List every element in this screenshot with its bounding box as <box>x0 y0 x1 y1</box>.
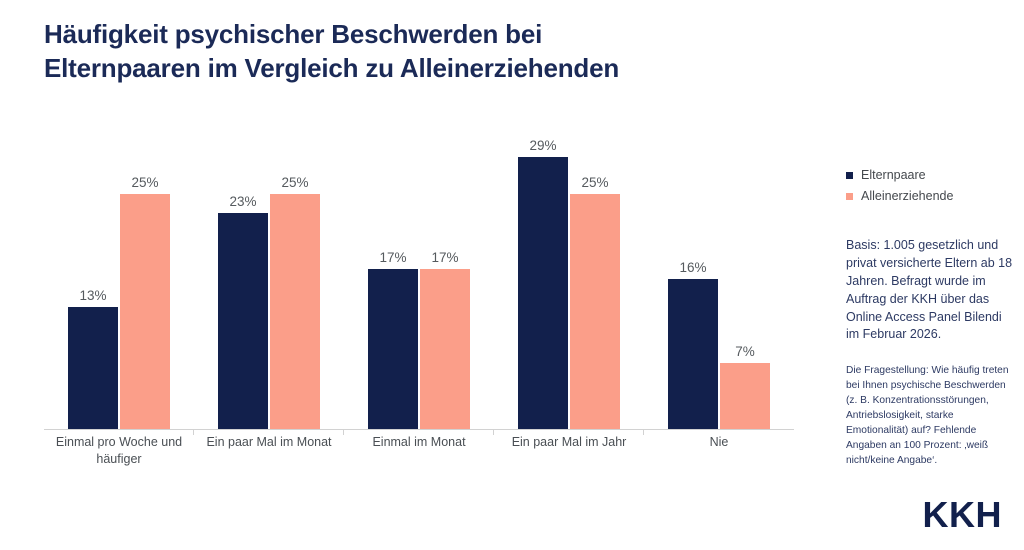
page-title: Häufigkeit psychischer Beschwerden bei E… <box>44 18 804 86</box>
bar-group: 23%25% <box>194 110 344 429</box>
bar-elternpaare[interactable] <box>68 307 118 429</box>
bar-group: 13%25% <box>44 110 194 429</box>
bar-column: 17% <box>420 110 470 429</box>
bar-pair: 29%25% <box>518 110 620 429</box>
bar-value-label: 25% <box>120 175 170 190</box>
bar-alleinerziehende[interactable] <box>420 269 470 429</box>
legend-label-elternpaare: Elternpaare <box>861 168 926 182</box>
bar-value-label: 25% <box>270 175 320 190</box>
chart-legend: Elternpaare Alleinerziehende <box>846 168 1014 203</box>
bar-alleinerziehende[interactable] <box>120 194 170 429</box>
bar-group: 16%7% <box>644 110 794 429</box>
x-axis-line <box>44 429 794 430</box>
question-note: Die Fragestellung: Wie häufig treten bei… <box>846 364 1014 468</box>
page-title-line-2: Elternpaaren im Vergleich zu Alleinerzie… <box>44 52 804 86</box>
bar-column: 29% <box>518 110 568 429</box>
bar-value-label: 17% <box>420 250 470 265</box>
bar-pair: 17%17% <box>368 110 470 429</box>
bar-pair: 16%7% <box>668 110 770 429</box>
bar-column: 25% <box>570 110 620 429</box>
legend-swatch-icon-alleinerziehende <box>846 193 853 200</box>
basis-note: Basis: 1.005 gesetzlich und privat versi… <box>846 237 1014 344</box>
kkh-logo: KKH <box>923 494 1003 536</box>
bar-elternpaare[interactable] <box>518 157 568 429</box>
bar-column: 23% <box>218 110 268 429</box>
bar-group: 17%17% <box>344 110 494 429</box>
bar-alleinerziehende[interactable] <box>720 363 770 429</box>
bar-value-label: 29% <box>518 138 568 153</box>
x-axis-label: Ein paar Mal im Monat <box>194 434 344 468</box>
bar-elternpaare[interactable] <box>668 279 718 429</box>
page-title-line-1: Häufigkeit psychischer Beschwerden bei <box>44 18 804 52</box>
bar-value-label: 7% <box>720 344 770 359</box>
bar-alleinerziehende[interactable] <box>570 194 620 429</box>
bar-column: 17% <box>368 110 418 429</box>
x-axis-labels: Einmal pro Woche und häufigerEin paar Ma… <box>44 434 794 468</box>
legend-item-elternpaare[interactable]: Elternpaare <box>846 168 1014 182</box>
x-axis-label: Nie <box>644 434 794 468</box>
bar-value-label: 13% <box>68 288 118 303</box>
legend-swatch-icon-elternpaare <box>846 172 853 179</box>
bar-value-label: 25% <box>570 175 620 190</box>
legend-item-alleinerziehende[interactable]: Alleinerziehende <box>846 189 1014 203</box>
bar-value-label: 23% <box>218 194 268 209</box>
chart-plot-area: 13%25%23%25%17%17%29%25%16%7% <box>44 110 794 430</box>
side-panel: Elternpaare Alleinerziehende Basis: 1.00… <box>846 168 1014 468</box>
bar-pair: 23%25% <box>218 110 320 429</box>
bar-group: 29%25% <box>494 110 644 429</box>
bar-elternpaare[interactable] <box>218 213 268 429</box>
bar-value-label: 17% <box>368 250 418 265</box>
bar-column: 16% <box>668 110 718 429</box>
bar-column: 13% <box>68 110 118 429</box>
bar-column: 7% <box>720 110 770 429</box>
bar-column: 25% <box>120 110 170 429</box>
bar-elternpaare[interactable] <box>368 269 418 429</box>
x-axis-label: Einmal im Monat <box>344 434 494 468</box>
bar-groups: 13%25%23%25%17%17%29%25%16%7% <box>44 110 794 429</box>
x-axis-label: Einmal pro Woche und häufiger <box>44 434 194 468</box>
legend-label-alleinerziehende: Alleinerziehende <box>861 189 953 203</box>
bar-column: 25% <box>270 110 320 429</box>
x-axis-label: Ein paar Mal im Jahr <box>494 434 644 468</box>
bar-pair: 13%25% <box>68 110 170 429</box>
bar-value-label: 16% <box>668 260 718 275</box>
bar-alleinerziehende[interactable] <box>270 194 320 429</box>
